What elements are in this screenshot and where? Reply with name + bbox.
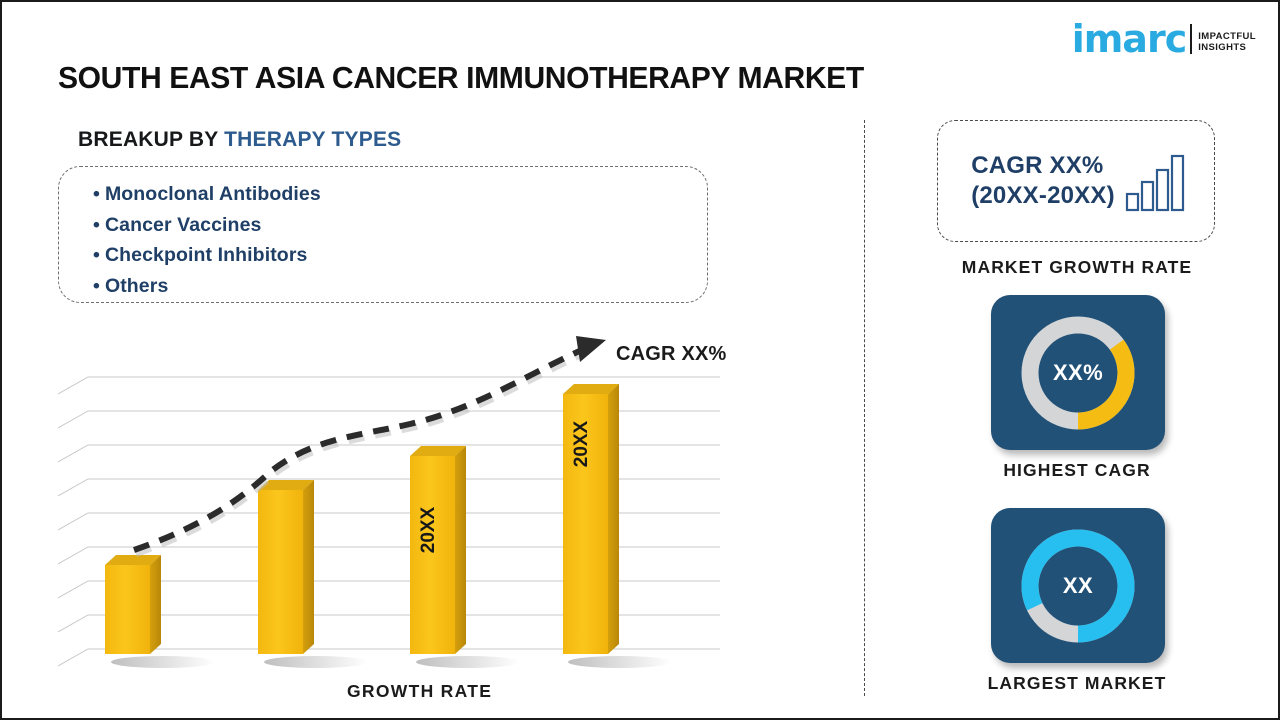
bar-3-label: 20XX: [418, 506, 439, 553]
highest-cagr-value: XX%: [1053, 360, 1103, 386]
growth-bar-chart: 20XX 20XX: [58, 332, 758, 672]
bar-shadows: [111, 656, 672, 668]
bullet-icon: •: [93, 183, 100, 205]
infographic-page: imarc IMPACTFUL INSIGHTS SOUTH EAST ASIA…: [0, 0, 1280, 720]
bullet-icon: •: [93, 214, 100, 236]
largest-market-card: XX: [991, 508, 1165, 663]
list-item: •Monoclonal Antibodies: [93, 179, 707, 210]
list-item: •Cancer Vaccines: [93, 210, 707, 241]
cagr-text: CAGR XX% (20XX-20XX): [971, 151, 1115, 211]
chart-svg: 20XX 20XX: [58, 332, 758, 672]
breakup-heading: BREAKUP BY THERAPY TYPES: [78, 128, 401, 152]
trendline-label: CAGR XX%: [616, 343, 727, 366]
logo-tagline: IMPACTFUL INSIGHTS: [1198, 31, 1256, 53]
logo-wordmark: imarc: [1072, 22, 1187, 56]
list-item: •Checkpoint Inhibitors: [93, 240, 707, 271]
highest-cagr-card: XX%: [991, 295, 1165, 450]
page-title: SOUTH EAST ASIA CANCER IMMUNOTHERAPY MAR…: [58, 60, 864, 96]
logo-tagline-line1: IMPACTFUL: [1198, 31, 1256, 42]
bullet-icon: •: [93, 275, 100, 297]
list-item-label: Cancer Vaccines: [105, 214, 262, 236]
largest-market-caption: LARGEST MARKET: [902, 673, 1252, 694]
largest-market-value: XX: [1063, 573, 1093, 599]
list-item-label: Monoclonal Antibodies: [105, 183, 321, 205]
logo-divider: [1190, 24, 1192, 54]
bar-2: [258, 480, 314, 654]
breakup-heading-prefix: BREAKUP BY: [78, 128, 224, 151]
list-item-label: Checkpoint Inhibitors: [105, 244, 308, 266]
market-growth-rate-box: CAGR XX% (20XX-20XX): [937, 120, 1215, 242]
bar-1: [105, 555, 161, 654]
vertical-divider: [864, 120, 865, 696]
bar-4: 20XX: [563, 384, 619, 654]
breakup-heading-highlight: THERAPY TYPES: [224, 128, 401, 151]
bullet-icon: •: [93, 244, 100, 266]
logo-tagline-line2: INSIGHTS: [1198, 42, 1256, 53]
bar-4-label: 20XX: [571, 420, 592, 467]
imarc-logo: imarc IMPACTFUL INSIGHTS: [1072, 16, 1256, 56]
bar-chart-icon: [1125, 152, 1187, 214]
therapy-types-list: •Monoclonal Antibodies •Cancer Vaccines …: [59, 167, 707, 301]
chart-x-axis-label: GROWTH RATE: [347, 681, 492, 702]
cagr-line-2: (20XX-20XX): [971, 181, 1115, 211]
highest-cagr-caption: HIGHEST CAGR: [902, 460, 1252, 481]
cagr-line-1: CAGR XX%: [971, 151, 1115, 181]
bar-3: 20XX: [410, 446, 466, 654]
list-item-label: Others: [105, 275, 168, 297]
therapy-types-box: •Monoclonal Antibodies •Cancer Vaccines …: [58, 166, 708, 303]
list-item: •Others: [93, 271, 707, 302]
arrowhead-icon: [576, 336, 606, 362]
market-growth-rate-caption: MARKET GROWTH RATE: [902, 257, 1252, 278]
